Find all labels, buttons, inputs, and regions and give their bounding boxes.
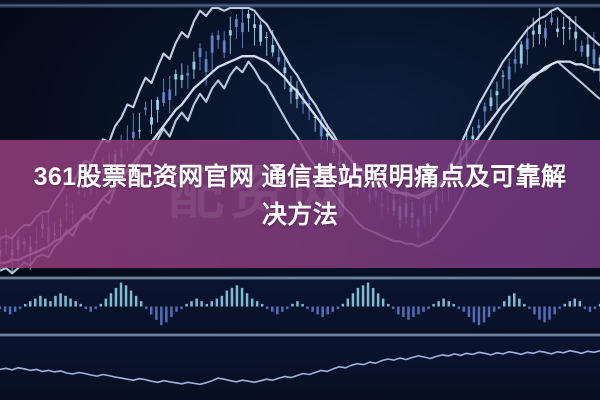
hero-banner: 配资网 361股票配资网官网 通信基站照明痛点及可靠解 决方法: [0, 0, 600, 400]
page-title-line-1: 361股票配资网官网 通信基站照明痛点及可靠解: [0, 158, 600, 196]
secondary-line-series: [0, 351, 600, 385]
page-title-line-2: 决方法: [0, 196, 600, 234]
page-title: 361股票配资网官网 通信基站照明痛点及可靠解 决方法: [0, 158, 600, 234]
